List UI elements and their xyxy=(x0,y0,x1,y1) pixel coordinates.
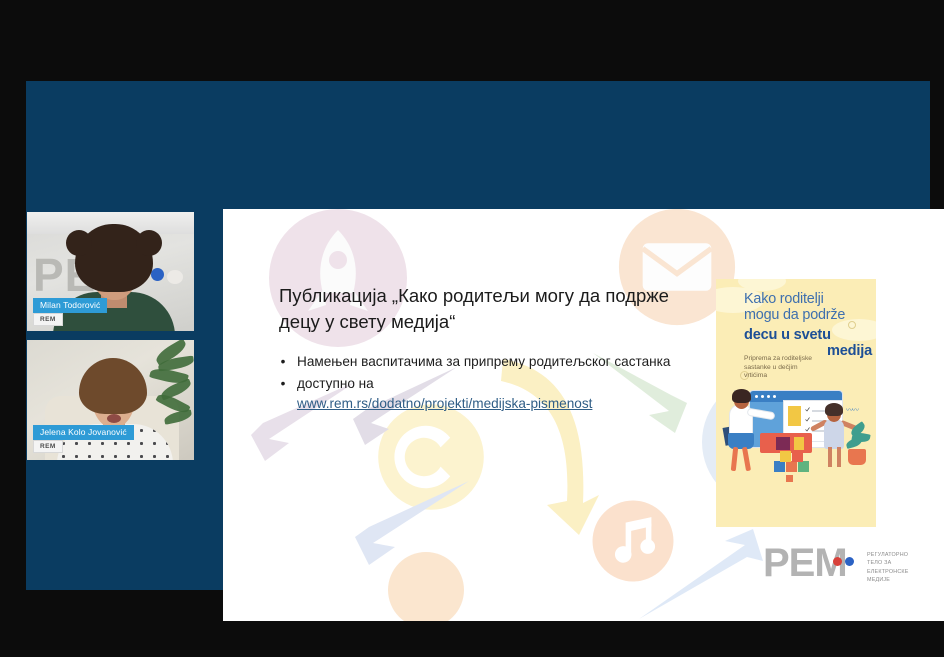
rem-logo-subtitle: РЕГУЛАТОРНО ТЕЛО ЗА ЕЛЕКТРОНСКЕ МЕДИЈЕ xyxy=(867,551,909,585)
publication-cover-image: Kako roditelji mogu da podrže decu u sve… xyxy=(716,279,876,527)
presentation-slide[interactable]: Публикација „Како родитељи могу да подрж… xyxy=(223,209,944,621)
squiggle-icon: 〰〰 xyxy=(846,405,858,415)
cover-title-light: Kako roditelji mogu da podrže xyxy=(744,291,872,323)
cover-illustration: 〰〰 〰〰 xyxy=(724,383,870,505)
adult-leg xyxy=(742,447,751,472)
toy-blocks-graphic xyxy=(774,451,810,473)
device-screen-graphic xyxy=(776,437,790,450)
thumbnail-graphic xyxy=(788,406,801,426)
video-tile-participant-1[interactable]: PEM Milan Todorović REM xyxy=(27,212,194,331)
device-screen-graphic xyxy=(794,437,804,450)
backdrop-dot xyxy=(151,268,164,281)
music-note-icon xyxy=(587,495,679,587)
child-figure xyxy=(824,419,844,449)
child-leg xyxy=(837,447,841,467)
screen: Публикација „Како родитељи могу да подрж… xyxy=(0,0,944,657)
participant-name: Jelena Kolo Jovanović xyxy=(33,425,134,440)
participant-org-badge: REM xyxy=(33,440,63,453)
child-hair xyxy=(825,403,843,416)
bullet-text: доступно на xyxy=(297,376,374,391)
bullet-marker: • xyxy=(279,374,287,414)
plant-pot xyxy=(848,449,866,465)
logo-blue-dot xyxy=(845,557,854,566)
cover-subtitle: Priprema za roditeljske sastanke u dečji… xyxy=(744,355,816,381)
participant-hair xyxy=(75,224,153,292)
publication-link[interactable]: www.rem.rs/dodatno/projekti/medijska-pis… xyxy=(297,396,592,411)
block-square xyxy=(786,475,793,482)
slide-bullet-list: • Намењен васпитачима за припрему родите… xyxy=(279,352,699,416)
rem-logo: PEM РЕГУЛАТОРНО ТЕЛО ЗА ЕЛЕКТРОНСКЕ МЕДИ… xyxy=(763,543,918,587)
participant-name: Milan Todorović xyxy=(33,298,107,313)
arrow-icon xyxy=(333,477,473,577)
plant-decoration xyxy=(140,342,194,438)
participant-org-badge: REM xyxy=(33,313,63,326)
child-leg xyxy=(828,447,832,467)
adult-hair xyxy=(732,389,751,403)
meeting-canvas: Публикација „Како родитељи могу да подрж… xyxy=(26,81,930,590)
bullet-item: • Намењен васпитачима за припрему родите… xyxy=(279,352,699,372)
bullet-text: Намењен васпитачима за припрему родитељс… xyxy=(297,352,670,372)
slide-title: Публикација „Како родитељи могу да подрж… xyxy=(279,283,679,336)
bullet-marker: • xyxy=(279,352,287,372)
adult-leg xyxy=(731,447,738,471)
bullet-item: • доступно на www.rem.rs/dodatno/projekt… xyxy=(279,374,699,414)
check-icon xyxy=(805,407,810,412)
check-icon xyxy=(805,427,810,432)
logo-red-dot xyxy=(833,557,842,566)
adult-skirt xyxy=(728,433,754,449)
arrow-icon xyxy=(633,527,773,621)
plant-leaf xyxy=(845,437,863,449)
check-icon xyxy=(805,417,810,422)
circle-decoration xyxy=(387,551,465,621)
backdrop-dot xyxy=(167,270,183,284)
video-tile-participant-2[interactable]: Jelena Kolo Jovanović REM xyxy=(27,340,194,460)
